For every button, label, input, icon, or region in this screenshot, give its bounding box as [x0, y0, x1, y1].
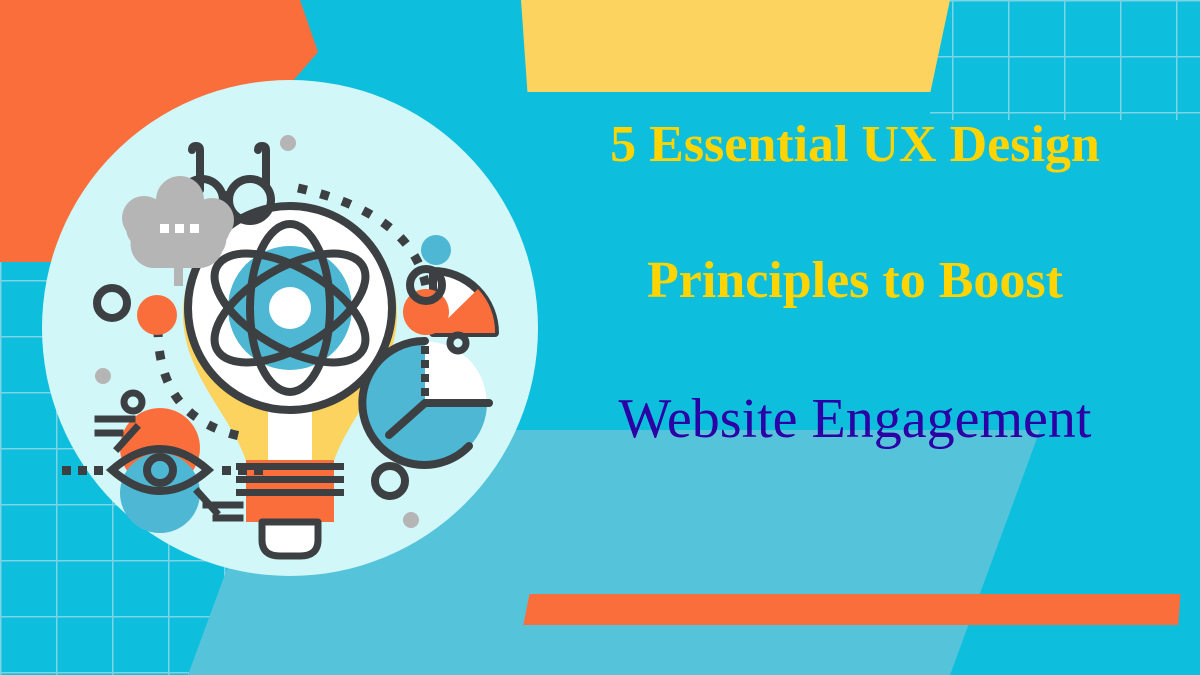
grey-dot-bottom: [403, 512, 419, 528]
grey-dot-top: [280, 135, 296, 151]
yellow-parallelogram-top: [501, 0, 950, 92]
headline-line-2: Principles to Boost: [530, 254, 1180, 308]
grid-pattern-right: [930, 0, 1200, 120]
blog-banner: 5 Essential UX Design Principles to Boos…: [0, 0, 1200, 675]
page-title: 5 Essential UX Design Principles to Boos…: [530, 118, 1180, 448]
orange-stripe-bottom-right: [523, 594, 1180, 625]
headline-line-1: 5 Essential UX Design: [530, 118, 1180, 172]
atom-nucleus: [269, 287, 311, 329]
ux-idea-lightbulb-illustration: [40, 78, 540, 578]
blue-dot-topright: [421, 235, 451, 265]
grey-dot-left: [95, 368, 111, 384]
thought-cloud-dots: [160, 224, 199, 233]
orange-dot-left: [137, 295, 177, 335]
headline-line-3: Website Engagement: [530, 390, 1180, 448]
